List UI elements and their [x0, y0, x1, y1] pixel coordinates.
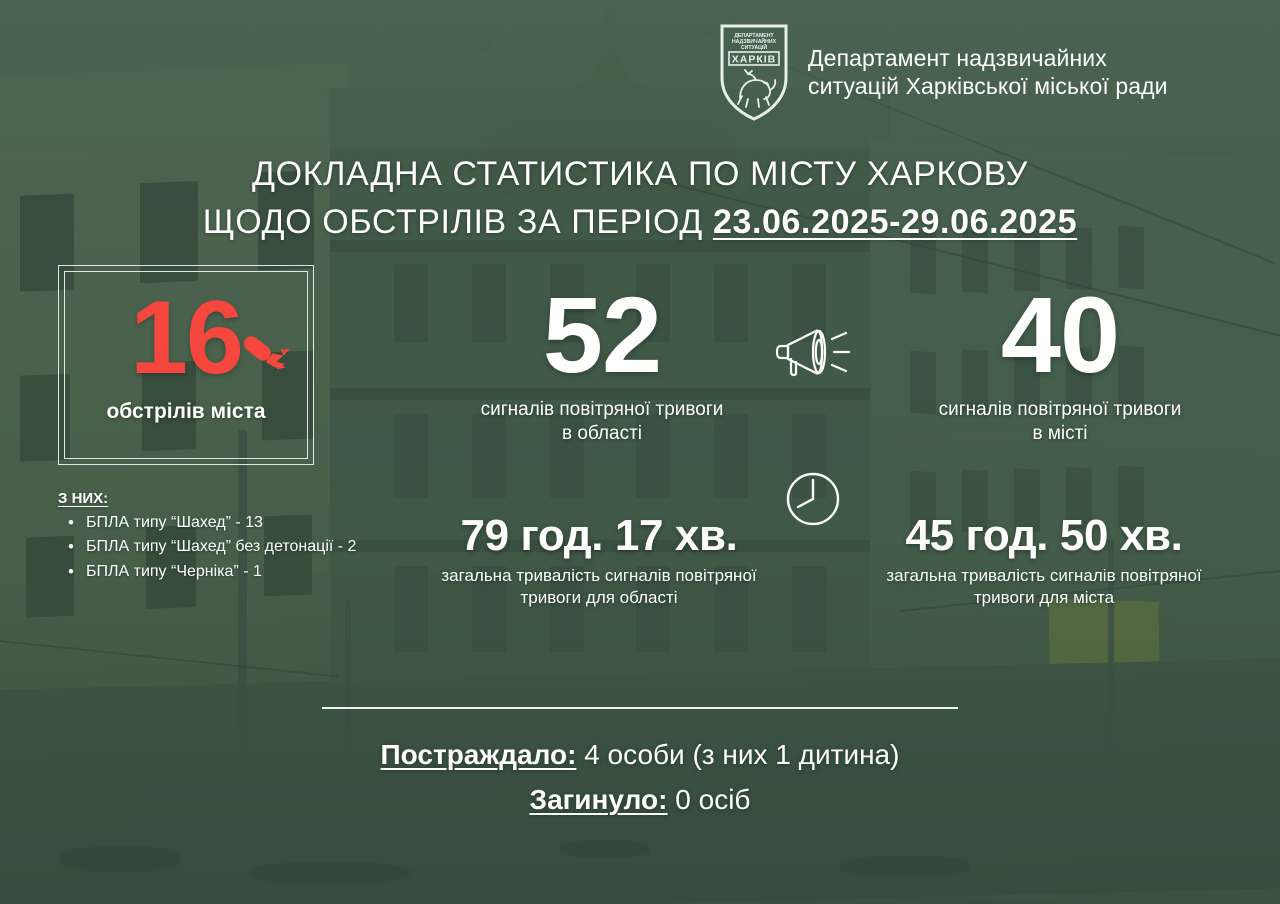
- title-line-1: ДОКЛАДНА СТАТИСТИКА ПО МІСТУ ХАРКОВУ: [0, 150, 1280, 198]
- breakdown-list: БПЛА типу “Шахед” - 13 БПЛА типу “Шахед”…: [58, 511, 388, 584]
- list-item: БПЛА типу “Черніка” - 1: [58, 560, 388, 584]
- killed-line: Загинуло: 0 осіб: [0, 777, 1280, 822]
- alarms-oblast-value: 52: [432, 282, 772, 388]
- list-item: БПЛА типу “Шахед” без детонації - 2: [58, 535, 388, 559]
- duration-oblast-caption: загальна тривалість сигналів повітряної …: [398, 565, 800, 609]
- content-layer: ДЕПАРТАМЕНТ НАДЗВИЧАЙНИХ СИТУАЦІЙ ХАРКІВ: [0, 0, 1280, 904]
- svg-text:СИТУАЦІЙ: СИТУАЦІЙ: [741, 43, 767, 51]
- infographic-page: ДЕПАРТАМЕНТ НАДЗВИЧАЙНИХ СИТУАЦІЙ ХАРКІВ: [0, 0, 1280, 904]
- alarms-oblast-caption: сигналів повітряної тривоги в області: [432, 398, 772, 447]
- brand-name: Департамент надзвичайних ситуацій Харків…: [808, 44, 1168, 100]
- duration-city-block: 45 год. 50 хв. загальна тривалість сигна…: [838, 513, 1250, 609]
- alarms-city-caption: сигналів повітряної тривоги в місті: [890, 398, 1230, 447]
- svg-text:ХАРКІВ: ХАРКІВ: [732, 54, 777, 66]
- injured-value: 4 особи (з них 1 дитина): [576, 739, 899, 770]
- injured-line: Постраждало: 4 особи (з них 1 дитина): [0, 732, 1280, 777]
- casualties-block: Постраждало: 4 особи (з них 1 дитина) За…: [0, 732, 1280, 823]
- megaphone-icon: [772, 322, 852, 384]
- alarms-oblast-block: 52 сигналів повітряної тривоги в області: [432, 282, 772, 446]
- bomb-icon: [235, 324, 293, 382]
- report-period: 23.06.2025-29.06.2025: [713, 203, 1077, 241]
- svg-text:НАДЗВИЧАЙНИХ: НАДЗВИЧАЙНИХ: [732, 37, 777, 45]
- shellings-frame-inner: 16 обстрілів міста: [64, 271, 308, 459]
- list-item: БПЛА типу “Шахед” - 13: [58, 511, 388, 535]
- duration-oblast-value: 79 год. 17 хв.: [398, 513, 800, 559]
- injured-label: Постраждало:: [381, 739, 577, 770]
- duration-city-caption: загальна тривалість сигналів повітряної …: [838, 565, 1250, 609]
- alarms-city-value: 40: [890, 282, 1230, 388]
- alarms-city-block: 40 сигналів повітряної тривоги в місті: [890, 282, 1230, 446]
- brand-header: ДЕПАРТАМЕНТ НАДЗВИЧАЙНИХ СИТУАЦІЙ ХАРКІВ: [718, 22, 1168, 122]
- killed-label: Загинуло:: [530, 784, 668, 815]
- duration-city-value: 45 год. 50 хв.: [838, 513, 1250, 559]
- killed-value: 0 осіб: [667, 784, 750, 815]
- breakdown-block: З НИХ: БПЛА типу “Шахед” - 13 БПЛА типу …: [58, 490, 388, 584]
- section-divider: [322, 707, 958, 709]
- title-line-2-prefix: ЩОДО ОБСТРІЛІВ ЗА ПЕРІОД: [203, 203, 713, 241]
- page-title: ДОКЛАДНА СТАТИСТИКА ПО МІСТУ ХАРКОВУ ЩОД…: [0, 150, 1280, 247]
- shellings-caption: обстрілів міста: [65, 400, 307, 424]
- breakdown-title: З НИХ:: [58, 490, 388, 507]
- shellings-frame: 16 обстрілів міста: [58, 265, 314, 465]
- duration-oblast-block: 79 год. 17 хв. загальна тривалість сигна…: [398, 513, 800, 609]
- title-line-2: ЩОДО ОБСТРІЛІВ ЗА ПЕРІОД 23.06.2025-29.0…: [0, 198, 1280, 246]
- shield-emblem-icon: ДЕПАРТАМЕНТ НАДЗВИЧАЙНИХ СИТУАЦІЙ ХАРКІВ: [718, 22, 790, 122]
